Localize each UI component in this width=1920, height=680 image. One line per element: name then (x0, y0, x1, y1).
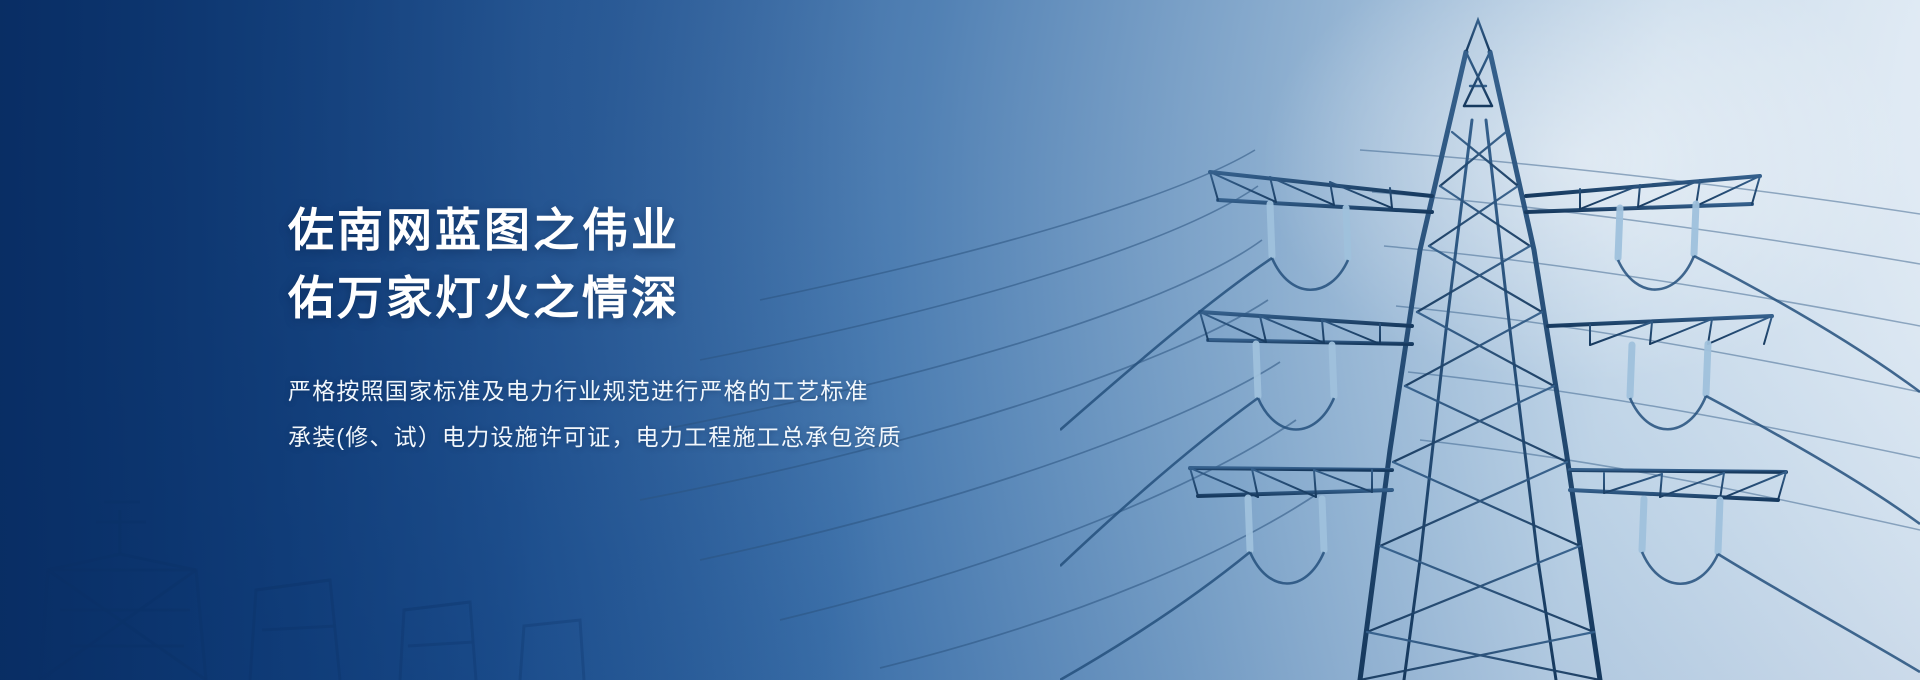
transmission-tower-icon (1060, 0, 1920, 680)
headline-line-1: 佐南网蓝图之伟业 (288, 196, 1188, 264)
subtitle-line-1: 严格按照国家标准及电力行业规范进行严格的工艺标准 (288, 368, 1188, 414)
hero-banner: 佐南网蓝图之伟业 佑万家灯火之情深 严格按照国家标准及电力行业规范进行严格的工艺… (0, 0, 1920, 680)
subtitle-line-2: 承装(修、试）电力设施许可证，电力工程施工总承包资质 (288, 414, 1188, 460)
banner-copy: 佐南网蓝图之伟业 佑万家灯火之情深 严格按照国家标准及电力行业规范进行严格的工艺… (288, 196, 1188, 460)
headline-line-2: 佑万家灯火之情深 (288, 264, 1188, 332)
substation-silhouette (0, 450, 620, 680)
subtitle-block: 严格按照国家标准及电力行业规范进行严格的工艺标准 承装(修、试）电力设施许可证，… (288, 368, 1188, 460)
